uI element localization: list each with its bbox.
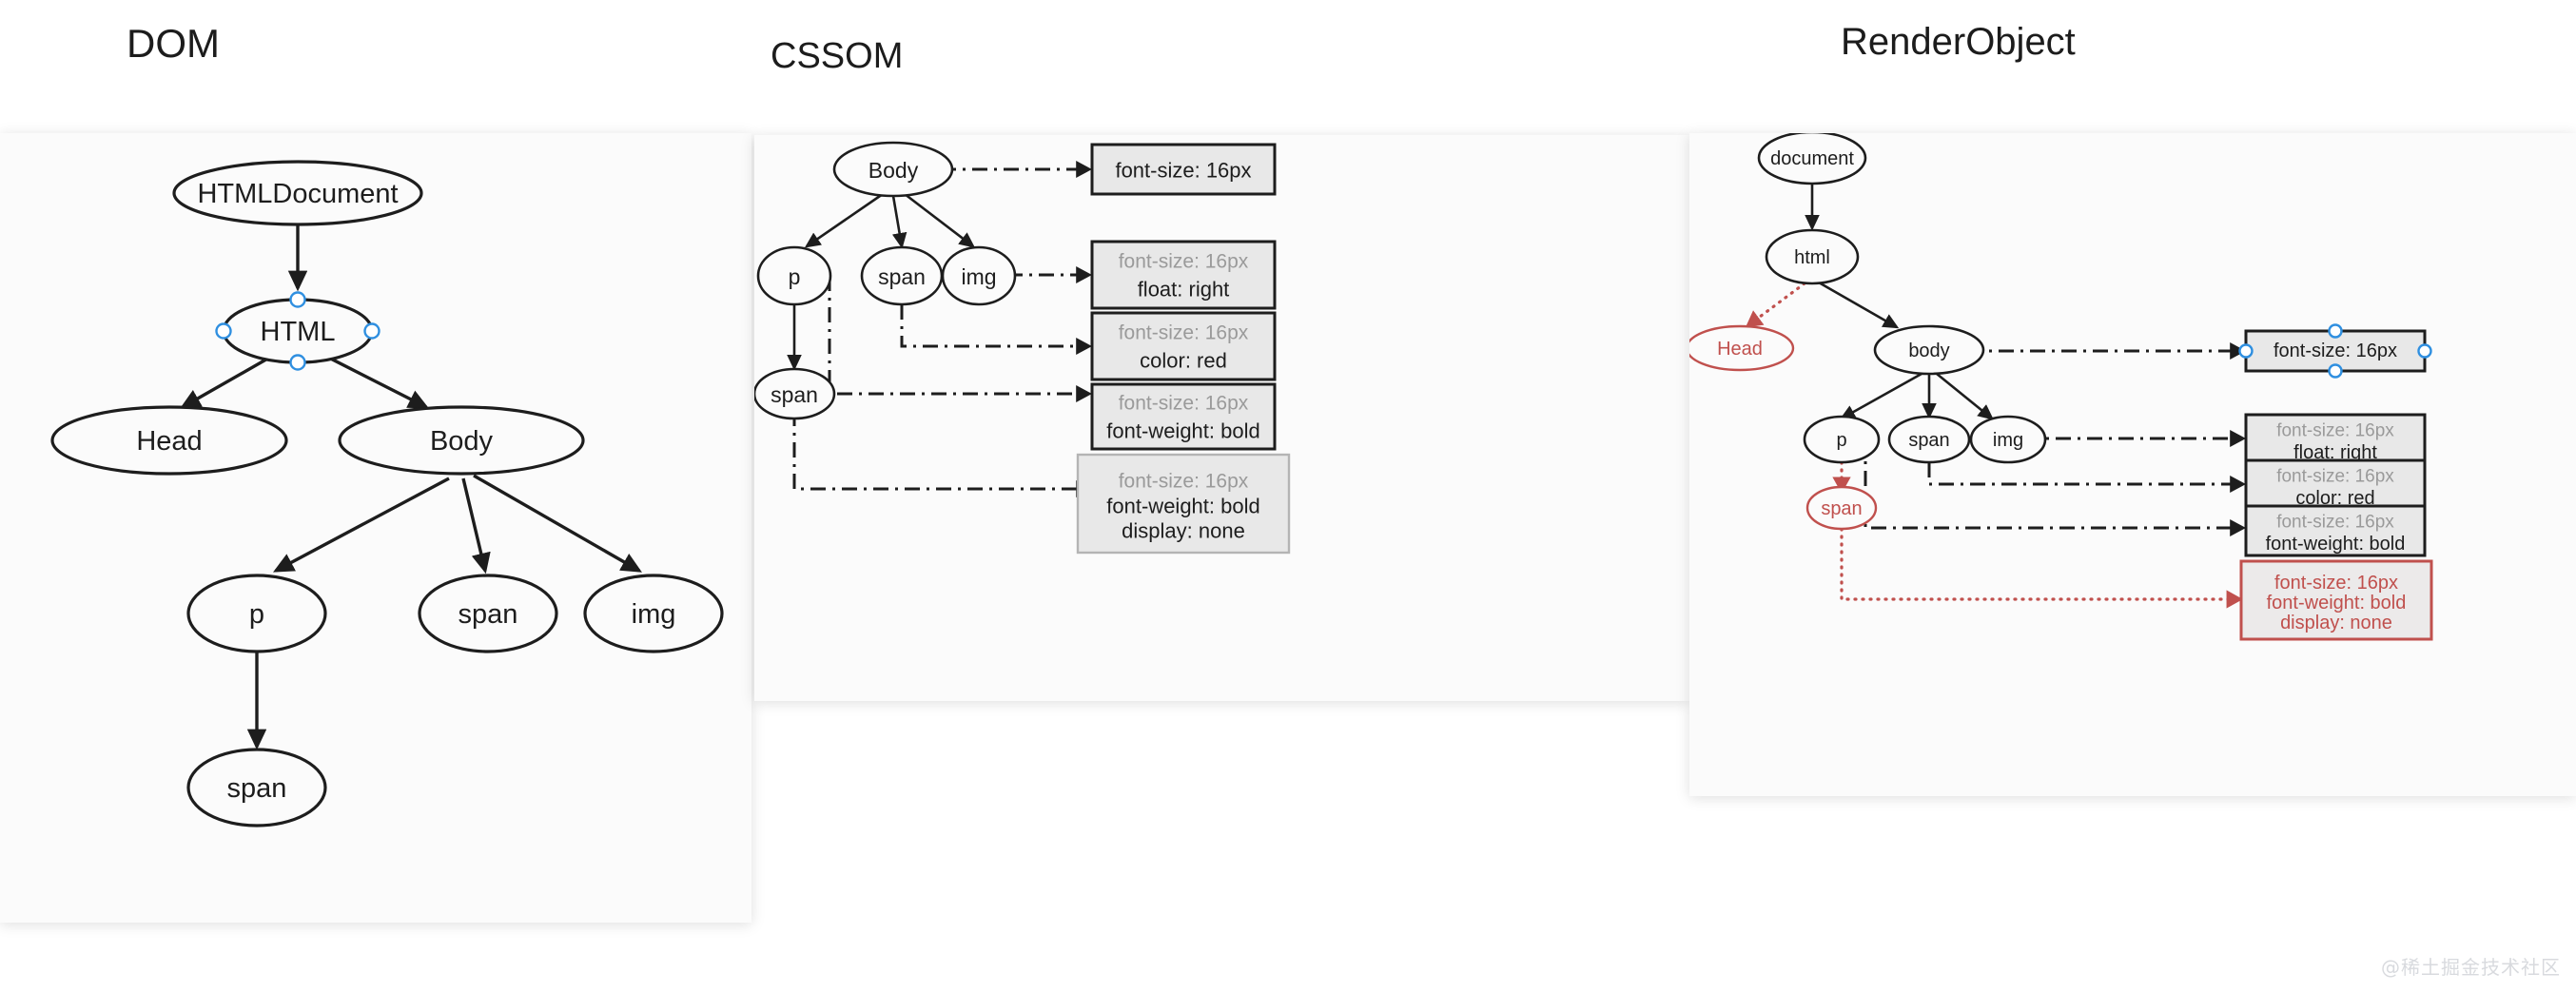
edge-html-head-excluded [1748, 283, 1805, 325]
renderobject-node-label: span [1908, 430, 1949, 451]
handle-right[interactable] [2419, 345, 2431, 358]
cssom-style-box-img[interactable]: font-size: 16px float: right [1092, 242, 1275, 308]
cssom-style-box-span[interactable]: font-size: 16px color: red [1092, 313, 1275, 380]
cssom-style-box-p[interactable]: font-size: 16px font-weight: bold [1092, 384, 1275, 449]
section-title-dom: DOM [127, 21, 220, 67]
dom-node-span-body[interactable]: span [420, 575, 556, 652]
cssom-node-p[interactable]: p [758, 247, 830, 304]
watermark: @稀土掘金技术社区 [2381, 952, 2561, 980]
renderobject-node-label: img [1993, 430, 2023, 451]
handle-bottom[interactable] [2330, 365, 2342, 378]
edge-body-img [1937, 374, 1992, 419]
edge-body-p [807, 194, 883, 246]
handle-top[interactable] [291, 293, 305, 307]
cssom-style-links [794, 169, 1089, 489]
renderobject-panel: document html Head body p [1689, 133, 2576, 796]
renderobject-style-box-span-excluded[interactable]: font-size: 16px font-weight: bold displa… [2241, 561, 2431, 639]
dom-node-label: HTMLDocument [197, 179, 398, 209]
cssom-node-body[interactable]: Body [834, 143, 952, 196]
cssom-node-label: img [961, 264, 996, 289]
cssom-node-span-p[interactable]: span [754, 369, 834, 419]
dom-node-label: span [459, 599, 518, 630]
cssom-node-span-body[interactable]: span [862, 247, 942, 304]
section-title-cssom: CSSOM [771, 36, 903, 77]
renderobject-node-document[interactable]: document [1759, 133, 1865, 184]
edge-body-img [905, 194, 973, 246]
style-line: font-size: 16px [2276, 421, 2394, 441]
renderobject-node-body[interactable]: body [1875, 326, 1983, 374]
style-line: float: right [1138, 278, 1230, 302]
diagram-canvas: DOM CSSOM RenderObject H [0, 0, 2576, 993]
dom-panel: HTMLDocument HTML Head Body [0, 133, 751, 923]
renderobject-style-box-p[interactable]: font-size: 16px font-weight: bold [2246, 506, 2425, 555]
edge-body-span [463, 478, 485, 571]
renderobject-node-span-body[interactable]: span [1889, 417, 1969, 462]
style-line: font-size: 16px [2276, 467, 2394, 487]
handle-left[interactable] [2240, 345, 2253, 358]
cssom-node-label: Body [868, 158, 919, 183]
cssom-style-box-span-p[interactable]: font-size: 16px font-weight: bold displa… [1078, 455, 1289, 553]
dom-node-label: span [227, 773, 287, 804]
style-line: font-weight: bold [1106, 419, 1259, 443]
style-line: font-weight: bold [2267, 593, 2407, 613]
link-span-style [1929, 462, 2243, 484]
renderobject-style-links [1842, 351, 2243, 599]
cssom-node-label: span [878, 264, 926, 289]
style-line: font-size: 16px [1115, 159, 1251, 183]
dom-node-head[interactable]: Head [52, 407, 286, 474]
cssom-panel: Body p span img span [754, 135, 1689, 701]
style-line: font-size: 16px [2274, 341, 2397, 361]
handle-left[interactable] [217, 324, 231, 339]
style-line: display: none [2280, 613, 2392, 633]
handle-bottom[interactable] [291, 356, 305, 370]
handle-right[interactable] [365, 324, 380, 339]
dom-node-p[interactable]: p [188, 575, 325, 652]
dom-node-img[interactable]: img [585, 575, 722, 652]
link-span-style [902, 304, 1089, 346]
renderobject-node-label: document [1770, 148, 1854, 169]
style-line: font-size: 16px [1119, 322, 1249, 344]
style-line: color: red [1140, 349, 1227, 373]
dom-node-label: p [249, 599, 264, 630]
renderobject-style-box-img[interactable]: font-size: 16px float: right [2246, 415, 2425, 464]
dom-node-label: Body [430, 426, 494, 457]
dom-node-html[interactable]: HTML [224, 300, 372, 362]
edge-body-img [474, 476, 639, 571]
style-line: font-size: 16px [1119, 393, 1249, 415]
style-line: font-size: 16px [1119, 251, 1249, 273]
renderobject-style-box-span[interactable]: font-size: 16px color: red [2246, 460, 2425, 510]
renderobject-node-html[interactable]: html [1766, 230, 1858, 283]
section-title-renderobject: RenderObject [1841, 21, 2076, 64]
cssom-node-label: p [789, 264, 801, 289]
renderobject-node-span-excluded[interactable]: span [1807, 487, 1876, 529]
style-line: font-size: 16px [1119, 471, 1249, 493]
style-line: font-size: 16px [2274, 573, 2398, 594]
dom-node-htmldocument[interactable]: HTMLDocument [174, 162, 421, 224]
style-line: display: none [1122, 519, 1245, 543]
dom-node-label: HTML [261, 317, 336, 347]
renderobject-node-head-excluded[interactable]: Head [1689, 326, 1793, 370]
dom-node-span-p[interactable]: span [188, 750, 325, 826]
cssom-node-label: span [771, 382, 818, 407]
style-line: font-weight: bold [1106, 495, 1259, 518]
dom-node-label: Head [136, 426, 202, 457]
edge-body-span [893, 196, 902, 246]
renderobject-node-p[interactable]: p [1805, 417, 1879, 462]
renderobject-node-label: Head [1717, 339, 1763, 360]
link-span2-style [794, 411, 1089, 489]
renderobject-node-label: span [1821, 498, 1862, 519]
handle-top[interactable] [2330, 325, 2342, 338]
dom-node-label: img [632, 599, 676, 630]
renderobject-node-img[interactable]: img [1971, 417, 2045, 462]
cssom-style-box-body[interactable]: font-size: 16px [1092, 145, 1275, 194]
edge-html-body [1819, 282, 1897, 327]
style-line: font-size: 16px [2276, 513, 2394, 533]
renderobject-node-label: html [1794, 247, 1830, 268]
renderobject-node-label: body [1908, 341, 1949, 361]
style-line: font-weight: bold [2266, 534, 2406, 555]
cssom-node-img[interactable]: img [943, 247, 1015, 304]
edge-body-p [276, 478, 449, 571]
edge-body-p [1842, 374, 1922, 419]
dom-edges [183, 224, 639, 747]
renderobject-node-label: p [1836, 430, 1846, 451]
dom-node-body[interactable]: Body [340, 407, 583, 474]
